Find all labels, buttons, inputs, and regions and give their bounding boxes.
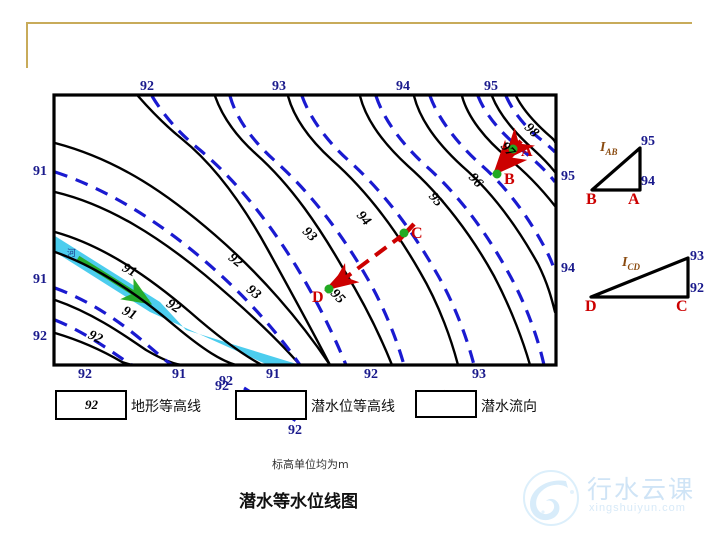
edge-label-top-2: 93 <box>272 80 286 94</box>
legend-label-water: 潜水位等高线 <box>311 396 395 416</box>
legend-box-water <box>235 390 307 420</box>
triangle-cd-top-value: 93 <box>690 250 704 264</box>
diagram-svg <box>0 0 720 540</box>
edge-label-left-3: 92 <box>33 330 47 344</box>
edge-label-bottom-5: 92 <box>364 368 378 382</box>
chart-title: 潜水等水位线图 <box>239 487 358 512</box>
triangle-ab-right-value: 94 <box>641 175 655 189</box>
edge-label-top-1: 92 <box>140 80 154 94</box>
point-label-A: A <box>521 144 533 160</box>
point-marker-B <box>493 170 502 179</box>
triangle-cd-vertex-c: C <box>676 299 688 315</box>
point-label-C: C <box>411 226 423 242</box>
triangle-cd-vertex-d: D <box>585 299 597 315</box>
watermark-url: xingshuiyun.com <box>589 502 686 514</box>
edge-label-left-1: 91 <box>33 165 47 179</box>
edge-label-left-2: 91 <box>33 273 47 287</box>
triangle-ab-top-value: 95 <box>641 135 655 149</box>
units-note: 标高单位均为m <box>272 456 349 472</box>
watermark: 行水云课 xingshuiyun.com <box>515 466 715 532</box>
gradient-label-ab: IAB <box>600 141 617 157</box>
edge-label-right-1: 95 <box>561 170 575 184</box>
gradient-label-cd: ICD <box>622 256 640 272</box>
point-label-B: B <box>504 172 515 188</box>
legend-box-flow <box>415 390 477 418</box>
triangle-cd-right-value: 92 <box>690 282 704 296</box>
edge-label-bottom-4: 91 <box>266 368 280 382</box>
gradient-subscript-cd: CD <box>627 262 640 272</box>
edge-label-right-2: 94 <box>561 262 575 276</box>
point-marker-C <box>400 229 409 238</box>
edge-label-bottom-2: 91 <box>172 368 186 382</box>
legend-sample-water-bottom: 92 <box>288 424 302 438</box>
triangle-ab-vertex-b: B <box>586 192 597 208</box>
triangle-ab-vertex-a: A <box>628 192 640 208</box>
edge-label-top-3: 94 <box>396 80 410 94</box>
edge-label-top-4: 95 <box>484 80 498 94</box>
edge-label-bottom-1: 92 <box>78 368 92 382</box>
river-label: 河 <box>67 246 76 259</box>
gradient-subscript-ab: AB <box>605 147 617 157</box>
edge-label-bottom-6: 93 <box>472 368 486 382</box>
slide-canvas: 92 93 94 95 91 91 92 95 94 92 91 92 91 9… <box>0 0 720 540</box>
legend-label-flow: 潜水流向 <box>481 396 537 416</box>
watermark-brand: 行水云课 <box>587 470 695 506</box>
point-label-D: D <box>312 290 324 306</box>
legend-sample-water-top: 92 <box>219 375 233 389</box>
legend-sample-topo: 92 <box>85 398 98 411</box>
legend-label-topo: 地形等高线 <box>131 396 201 416</box>
